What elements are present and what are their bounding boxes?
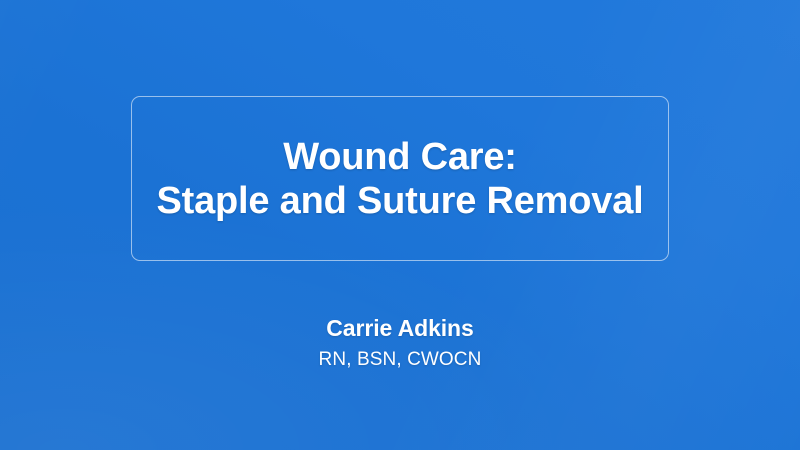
slide-content: Wound Care: Staple and Suture Removal Ca… — [0, 0, 800, 450]
presentation-title-slide: Wound Care: Staple and Suture Removal Ca… — [0, 0, 800, 450]
presenter-credentials: RN, BSN, CWOCN — [0, 347, 800, 372]
presenter-name: Carrie Adkins — [0, 313, 800, 343]
slide-title: Wound Care: Staple and Suture Removal — [156, 135, 643, 223]
title-frame: Wound Care: Staple and Suture Removal — [131, 96, 669, 261]
presenter-block: Carrie Adkins RN, BSN, CWOCN — [0, 313, 800, 372]
